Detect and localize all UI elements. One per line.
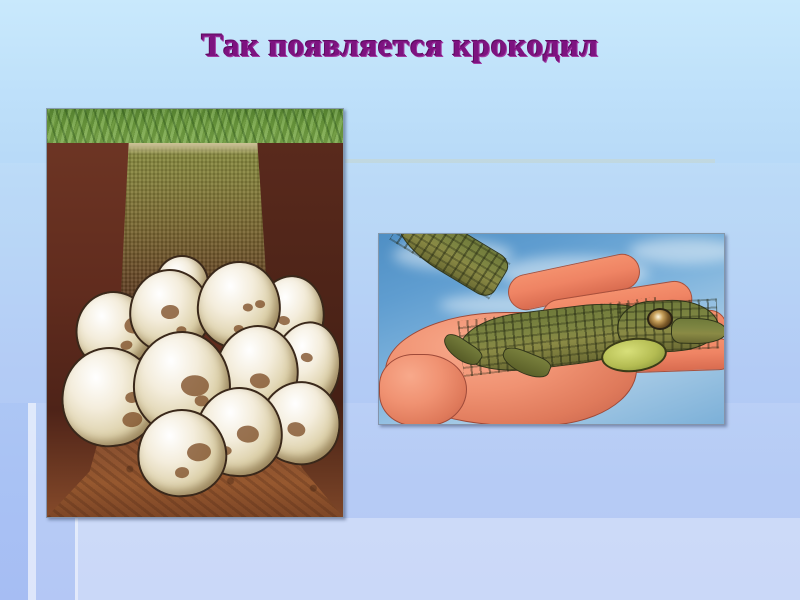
egg-mottle-spot (181, 375, 209, 396)
crocodile-egg-nest-image (46, 108, 344, 518)
egg-mottle-spot (249, 372, 270, 389)
egg-mottle-spot (255, 300, 265, 308)
nest-illustration (47, 109, 343, 517)
slide-title: Так появляется крокодил (0, 28, 800, 65)
egg-mottle-spot (161, 304, 180, 319)
egg-mottle-spot (286, 420, 307, 437)
background-lower-panel (75, 518, 800, 600)
egg-mottle-spot (243, 303, 253, 311)
vertical-edge-bar (75, 518, 78, 600)
egg-mottle-spot (186, 442, 212, 462)
horizontal-rule-divider (345, 159, 715, 163)
thumb-base (379, 354, 467, 425)
egg-mottle-spot (175, 466, 190, 478)
croc-eye (647, 308, 673, 330)
egg-mottle-spot (236, 425, 259, 443)
grass-strip (47, 109, 343, 143)
croc-snout (671, 318, 725, 345)
egg-mottle-spot (300, 352, 314, 363)
slide-canvas: Так появляется крокодил (0, 0, 800, 600)
vertical-highlight-bar (28, 403, 36, 600)
baby-crocodile-on-palm-image (378, 233, 725, 425)
